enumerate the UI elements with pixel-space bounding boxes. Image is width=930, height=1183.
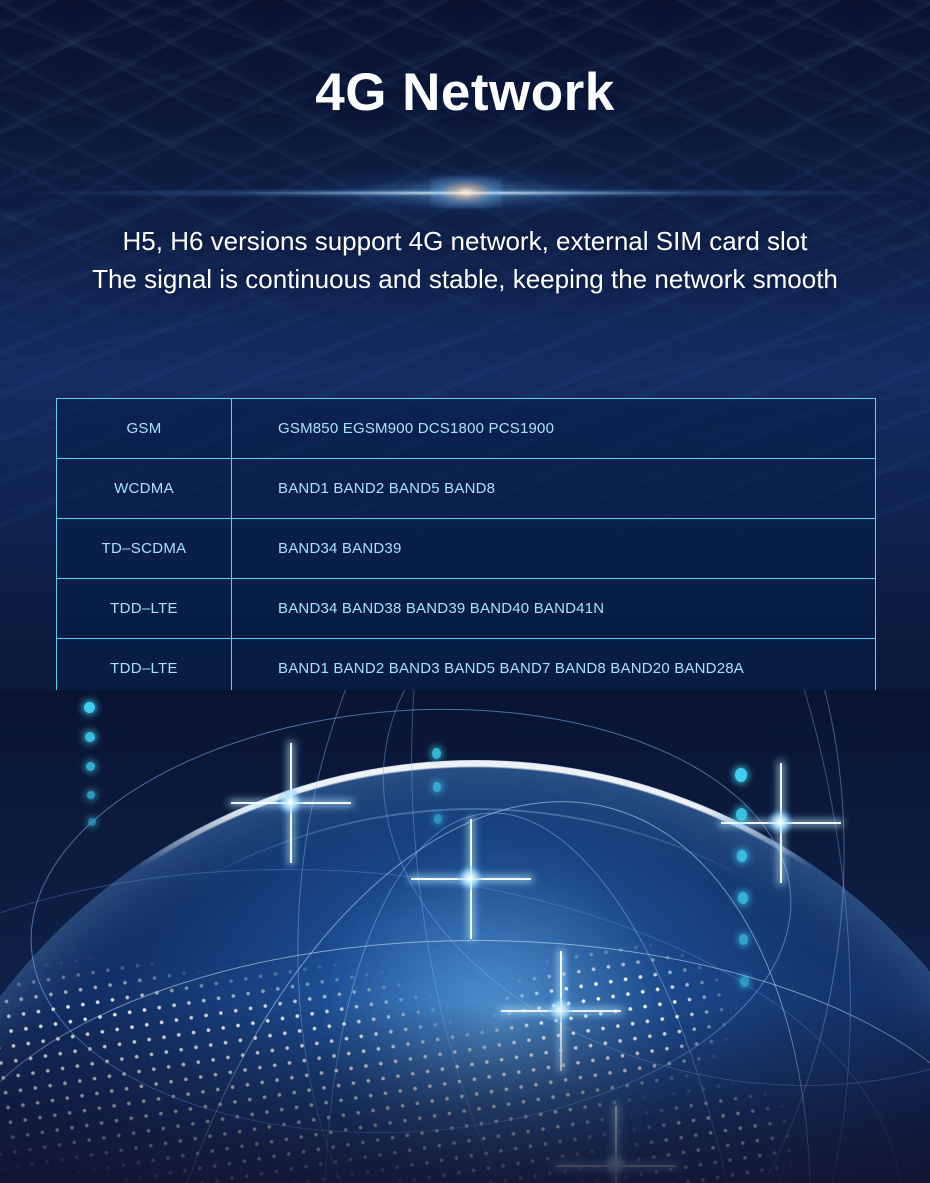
- star-flare-core: [547, 997, 573, 1023]
- signal-dot: [736, 808, 747, 821]
- signal-dot: [740, 976, 749, 987]
- page-title: 4G Network: [0, 62, 930, 123]
- table-row: WCDMA BAND1 BAND2 BAND5 BAND8: [57, 459, 876, 519]
- signal-dot: [739, 934, 748, 945]
- table-cell-standard: TD–SCDMA: [57, 519, 232, 579]
- table-cell-bands: BAND1 BAND2 BAND5 BAND8: [232, 459, 876, 519]
- table-row: GSM GSM850 EGSM900 DCS1800 PCS1900: [57, 399, 876, 459]
- signal-dot: [88, 818, 96, 826]
- signal-dot: [738, 892, 748, 904]
- table-cell-bands: BAND34 BAND38 BAND39 BAND40 BAND41N: [232, 579, 876, 639]
- signal-dot: [434, 814, 442, 824]
- table-row: TDD–LTE BAND34 BAND38 BAND39 BAND40 BAND…: [57, 579, 876, 639]
- signal-dot: [85, 732, 95, 742]
- subtitle-line-1: H5, H6 versions support 4G network, exte…: [0, 222, 930, 260]
- promo-page: 4G Network H5, H6 versions support 4G ne…: [0, 0, 930, 1183]
- page-subtitle: H5, H6 versions support 4G network, exte…: [0, 222, 930, 298]
- table-cell-bands: BAND34 BAND39: [232, 519, 876, 579]
- signal-dot: [84, 702, 95, 713]
- table-cell-standard: TDD–LTE: [57, 579, 232, 639]
- signal-dot: [433, 782, 441, 792]
- signal-dot: [87, 791, 95, 799]
- table-row: TD–SCDMA BAND34 BAND39: [57, 519, 876, 579]
- star-flare-core: [602, 1152, 628, 1178]
- star-flare-core: [767, 809, 793, 835]
- table-cell-standard: GSM: [57, 399, 232, 459]
- star-flare-core: [277, 789, 303, 815]
- subtitle-line-2: The signal is continuous and stable, kee…: [0, 260, 930, 298]
- network-bands-table: GSM GSM850 EGSM900 DCS1800 PCS1900 WCDMA…: [56, 398, 876, 699]
- table-cell-standard: WCDMA: [57, 459, 232, 519]
- star-flare-core: [457, 865, 483, 891]
- signal-dot: [432, 748, 441, 759]
- table-cell-bands: GSM850 EGSM900 DCS1800 PCS1900: [232, 399, 876, 459]
- flare-core-glow: [430, 176, 502, 208]
- globe-illustration: [0, 690, 930, 1183]
- signal-dot: [86, 762, 95, 771]
- signal-dot: [735, 768, 747, 782]
- table-body: GSM GSM850 EGSM900 DCS1800 PCS1900 WCDMA…: [57, 399, 876, 699]
- signal-dot: [737, 850, 747, 862]
